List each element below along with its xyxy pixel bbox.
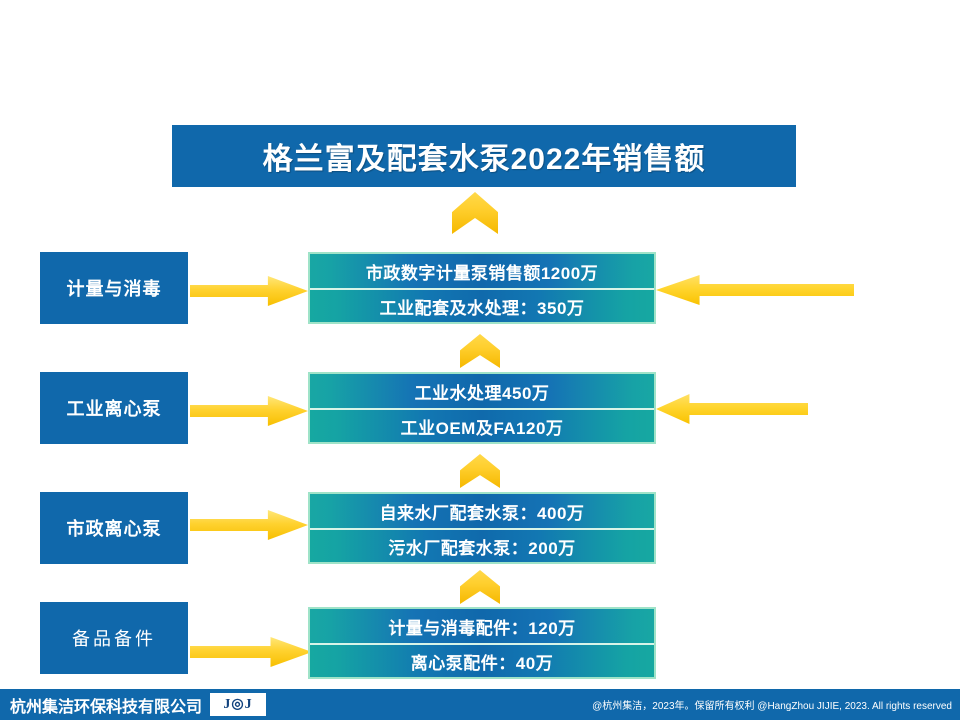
value-group-spare-parts: 计量与消毒配件：120万 离心泵配件：40万	[308, 607, 656, 679]
value-group-municipal: 自来水厂配套水泵：400万 污水厂配套水泵：200万	[308, 492, 656, 564]
value-row[interactable]: 市政数字计量泵销售额1200万	[310, 254, 654, 288]
arrow-right-icon-1	[190, 276, 308, 306]
value-group-metering: 市政数字计量泵销售额1200万 工业配套及水处理：350万	[308, 252, 656, 324]
value-row[interactable]: 计量与消毒配件：120万	[310, 609, 654, 643]
value-label: 工业配套及水处理：350万	[380, 294, 585, 319]
value-row[interactable]: 工业OEM及FA120万	[310, 408, 654, 442]
category-box-spare-parts[interactable]: 备品备件	[40, 602, 188, 674]
value-label: 污水厂配套水泵：200万	[388, 534, 575, 559]
category-label: 计量与消毒	[67, 275, 162, 301]
footer-copyright: @杭州集洁，2023年。保留所有权利 @HangZhou JIJIE, 2023…	[592, 697, 952, 712]
chart-title-box: 格兰富及配套水泵2022年销售额	[172, 125, 796, 187]
category-box-municipal-centrifugal-pump[interactable]: 市政离心泵	[40, 492, 188, 564]
value-row[interactable]: 工业水处理450万	[310, 374, 654, 408]
category-label: 市政离心泵	[67, 515, 162, 541]
value-label: 计量与消毒配件：120万	[388, 614, 575, 639]
arrow-right-icon-2	[190, 396, 308, 426]
chevron-up-icon-3	[460, 570, 500, 604]
arrow-right-icon-3	[190, 510, 308, 540]
chevron-up-icon-1	[460, 334, 500, 368]
value-row[interactable]: 自来水厂配套水泵：400万	[310, 494, 654, 528]
page-title: 格兰富及配套水泵2022年销售额	[263, 134, 706, 178]
value-label: 市政数字计量泵销售额1200万	[366, 259, 598, 284]
arrow-left-icon-2	[656, 394, 808, 424]
category-label: 备品备件	[72, 625, 156, 651]
footer-company-name: 杭州集洁环保科技有限公司	[10, 693, 202, 717]
chevron-up-icon-top	[452, 192, 498, 234]
value-label: 工业水处理450万	[415, 379, 550, 404]
arrow-left-icon-1	[656, 275, 854, 305]
value-row[interactable]: 污水厂配套水泵：200万	[310, 528, 654, 562]
footer-bar: 杭州集洁环保科技有限公司 J◎J @杭州集洁，2023年。保留所有权利 @Han…	[0, 689, 960, 720]
company-logo-icon: J◎J	[210, 693, 266, 716]
value-group-industrial: 工业水处理450万 工业OEM及FA120万	[308, 372, 656, 444]
value-row[interactable]: 离心泵配件：40万	[310, 643, 654, 677]
value-label: 离心泵配件：40万	[411, 649, 553, 674]
value-label: 工业OEM及FA120万	[401, 414, 564, 439]
arrow-right-icon-4	[190, 637, 312, 667]
category-box-metering-disinfection[interactable]: 计量与消毒	[40, 252, 188, 324]
category-box-industrial-centrifugal-pump[interactable]: 工业离心泵	[40, 372, 188, 444]
category-label: 工业离心泵	[67, 395, 162, 421]
chevron-up-icon-2	[460, 454, 500, 488]
value-row[interactable]: 工业配套及水处理：350万	[310, 288, 654, 322]
value-label: 自来水厂配套水泵：400万	[380, 499, 585, 524]
